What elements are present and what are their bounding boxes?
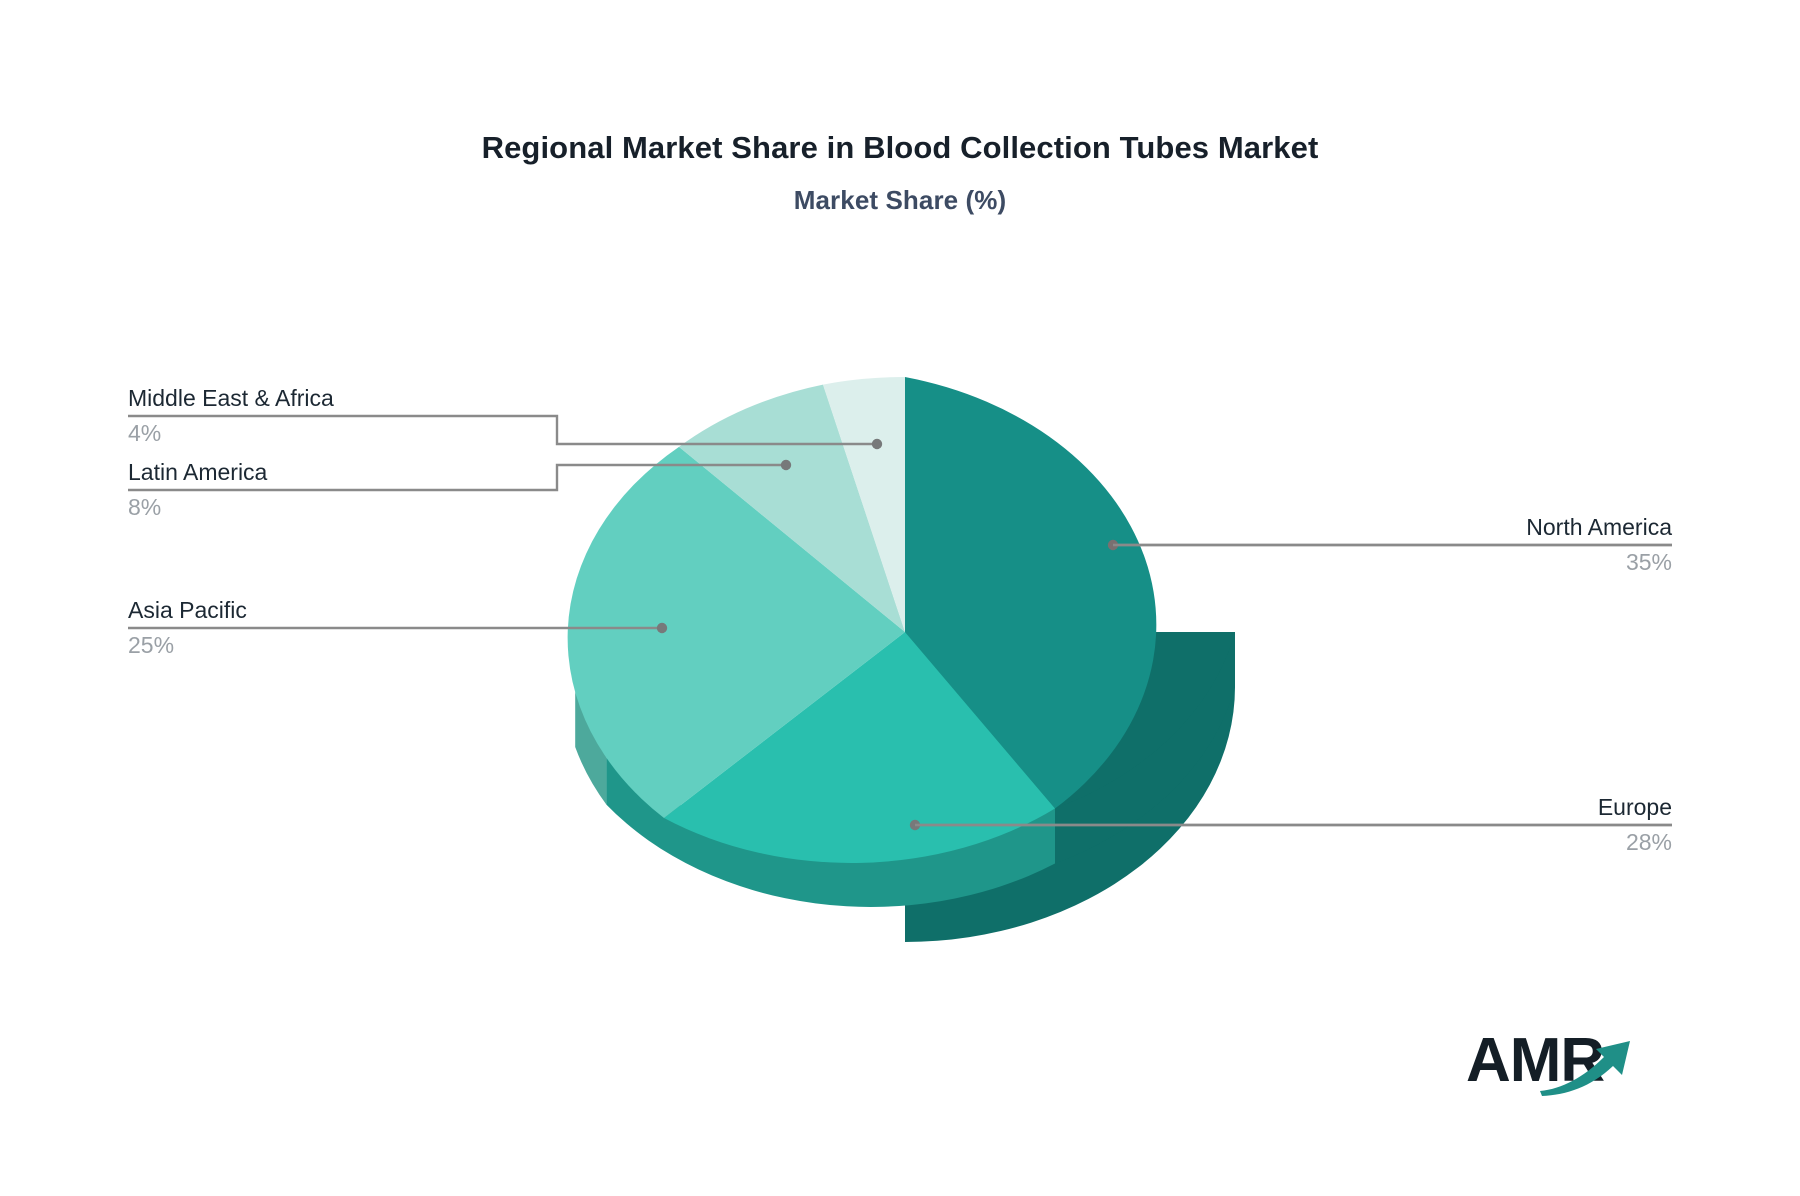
leader-dot-latin-america <box>781 460 791 470</box>
chart-canvas: Regional Market Share in Blood Collectio… <box>0 0 1800 1196</box>
pie-chart-graphic <box>0 0 1800 1196</box>
callout-value-north-america: 35% <box>1172 551 1672 574</box>
callout-north-america: North America 35% <box>1172 516 1672 574</box>
leader-dot-middle-east-africa <box>872 439 882 449</box>
callout-label-middle-east-africa: Middle East & Africa <box>128 387 334 410</box>
callout-label-asia-pacific: Asia Pacific <box>128 599 247 622</box>
callout-value-asia-pacific: 25% <box>128 634 247 657</box>
callout-label-latin-america: Latin America <box>128 461 267 484</box>
callout-label-north-america: North America <box>1172 516 1672 539</box>
trending-up-arrow-icon <box>1534 1027 1644 1097</box>
leader-dot-asia-pacific <box>657 623 667 633</box>
callout-latin-america: Latin America 8% <box>128 461 267 519</box>
callout-value-latin-america: 8% <box>128 496 267 519</box>
callout-value-europe: 28% <box>1172 831 1672 854</box>
callout-value-middle-east-africa: 4% <box>128 422 334 445</box>
callout-asia-pacific: Asia Pacific 25% <box>128 599 247 657</box>
callout-europe: Europe 28% <box>1172 796 1672 854</box>
callout-label-europe: Europe <box>1172 796 1672 819</box>
amr-logo: AMR <box>1466 1023 1646 1095</box>
callout-middle-east-africa: Middle East & Africa 4% <box>128 387 334 445</box>
pie-top-surface <box>568 377 1157 863</box>
